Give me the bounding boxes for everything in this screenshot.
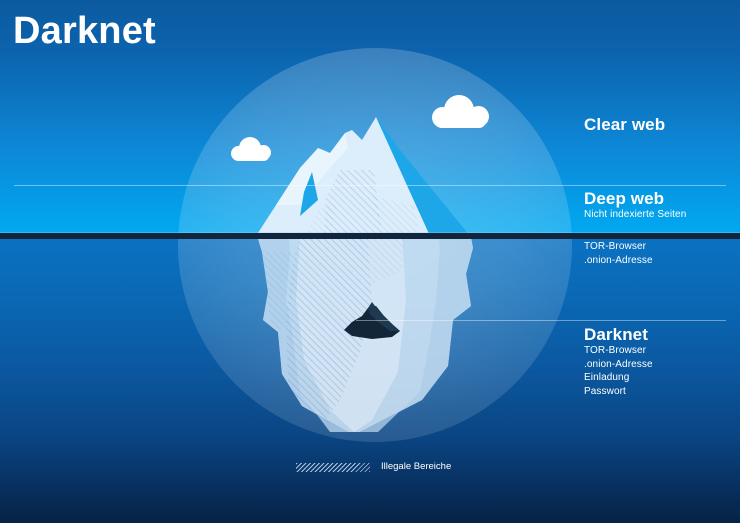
- diagonal-hatch-swatch: [296, 463, 370, 472]
- waterline: [0, 233, 740, 239]
- darknet-infographic: Darknet Clear web Deep web Nicht indexie…: [0, 0, 740, 523]
- clear-web-heading: Clear web: [584, 114, 665, 136]
- deep-web-heading: Deep web: [584, 188, 664, 210]
- label-clear-web: Clear web: [584, 114, 665, 136]
- darknet-req-line-3: Einladung: [584, 371, 653, 385]
- label-darknet-requirements: TOR-Browser .onion-Adresse Einladung Pas…: [584, 344, 653, 398]
- legend-label: Illegale Bereiche: [381, 461, 451, 473]
- page-title: Darknet: [13, 8, 156, 54]
- deep-web-req-line-1: TOR-Browser: [584, 240, 653, 254]
- darknet-req-line-1: TOR-Browser: [584, 344, 653, 358]
- darknet-req-line-4: Passwort: [584, 385, 653, 399]
- deep-web-subtitle: Nicht indexierte Seiten: [584, 208, 686, 222]
- darknet-leader-line: [356, 320, 726, 321]
- darknet-req-line-2: .onion-Adresse: [584, 358, 653, 372]
- label-deep-web: Deep web: [584, 188, 664, 210]
- legend: Illegale Bereiche: [296, 461, 451, 473]
- label-deep-web-subtitle: Nicht indexierte Seiten: [584, 208, 686, 222]
- darknet-heading: Darknet: [584, 324, 648, 346]
- label-deep-web-requirements: TOR-Browser .onion-Adresse: [584, 240, 653, 267]
- deep-web-req-line-2: .onion-Adresse: [584, 254, 653, 268]
- clear-deep-separator-line: [14, 185, 726, 186]
- label-darknet: Darknet: [584, 324, 648, 346]
